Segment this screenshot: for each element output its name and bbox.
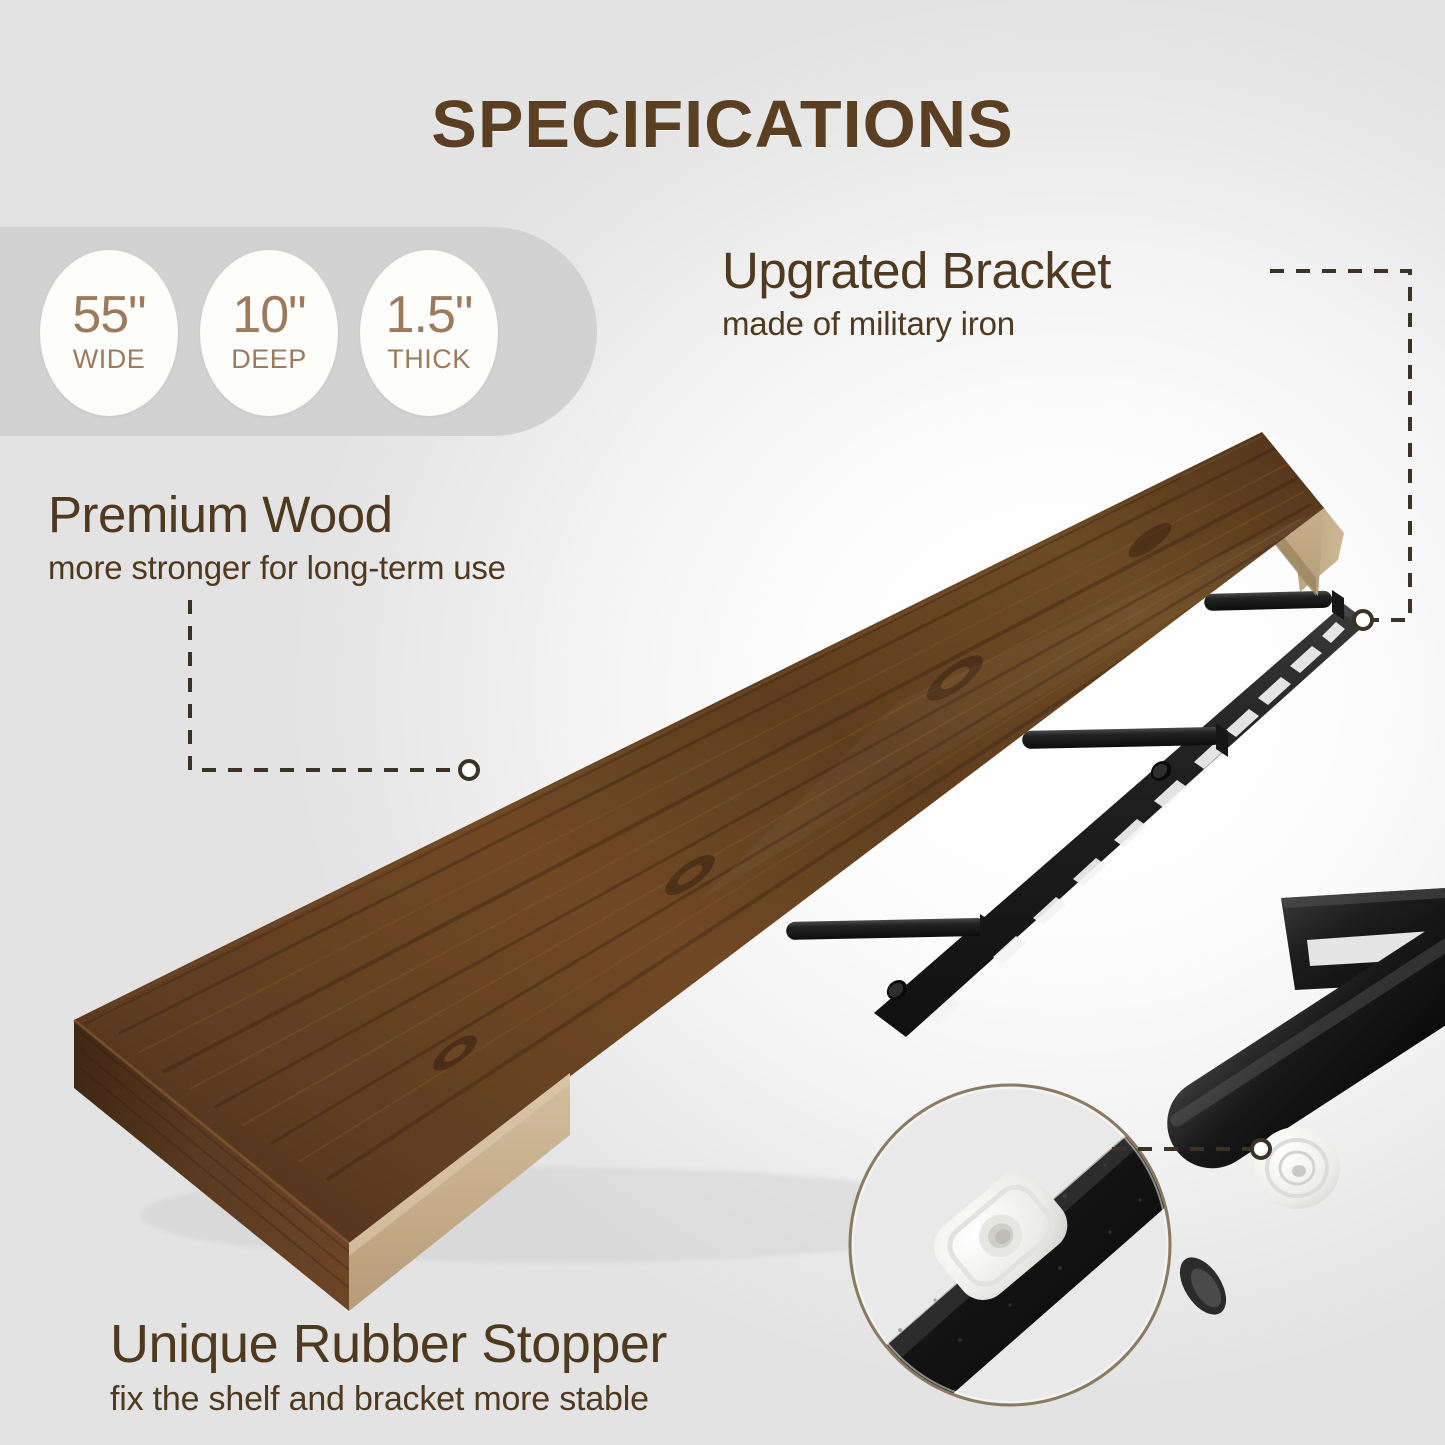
callout-premium-wood: Premium Wood more stronger for long-term…	[48, 488, 506, 587]
infographic-canvas: 55" WIDE 10" DEEP 1.5" THICK SPECIFICATI…	[0, 0, 1445, 1445]
leader-line-bracket	[1270, 271, 1410, 620]
callout-stopper-heading: Unique Rubber Stopper	[110, 1316, 667, 1373]
callout-stopper-subtitle: fix the shelf and bracket more stable	[110, 1380, 667, 1419]
leader-endpoint-stopper	[1252, 1140, 1270, 1158]
callout-rubber-stopper: Unique Rubber Stopper fix the shelf and …	[110, 1316, 667, 1419]
leader-endpoint-bracket	[1354, 611, 1372, 629]
callout-leader-lines	[0, 0, 1445, 1445]
leader-line-wood	[190, 600, 460, 770]
callout-bracket-heading: Upgrated Bracket	[722, 244, 1111, 298]
callout-wood-subtitle: more stronger for long-term use	[48, 549, 506, 587]
leader-endpoint-wood	[460, 761, 478, 779]
callout-bracket-subtitle: made of military iron	[722, 305, 1111, 343]
callout-upgraded-bracket: Upgrated Bracket made of military iron	[722, 244, 1111, 343]
page-title: SPECIFICATIONS	[0, 86, 1445, 163]
callout-wood-heading: Premium Wood	[48, 488, 506, 542]
